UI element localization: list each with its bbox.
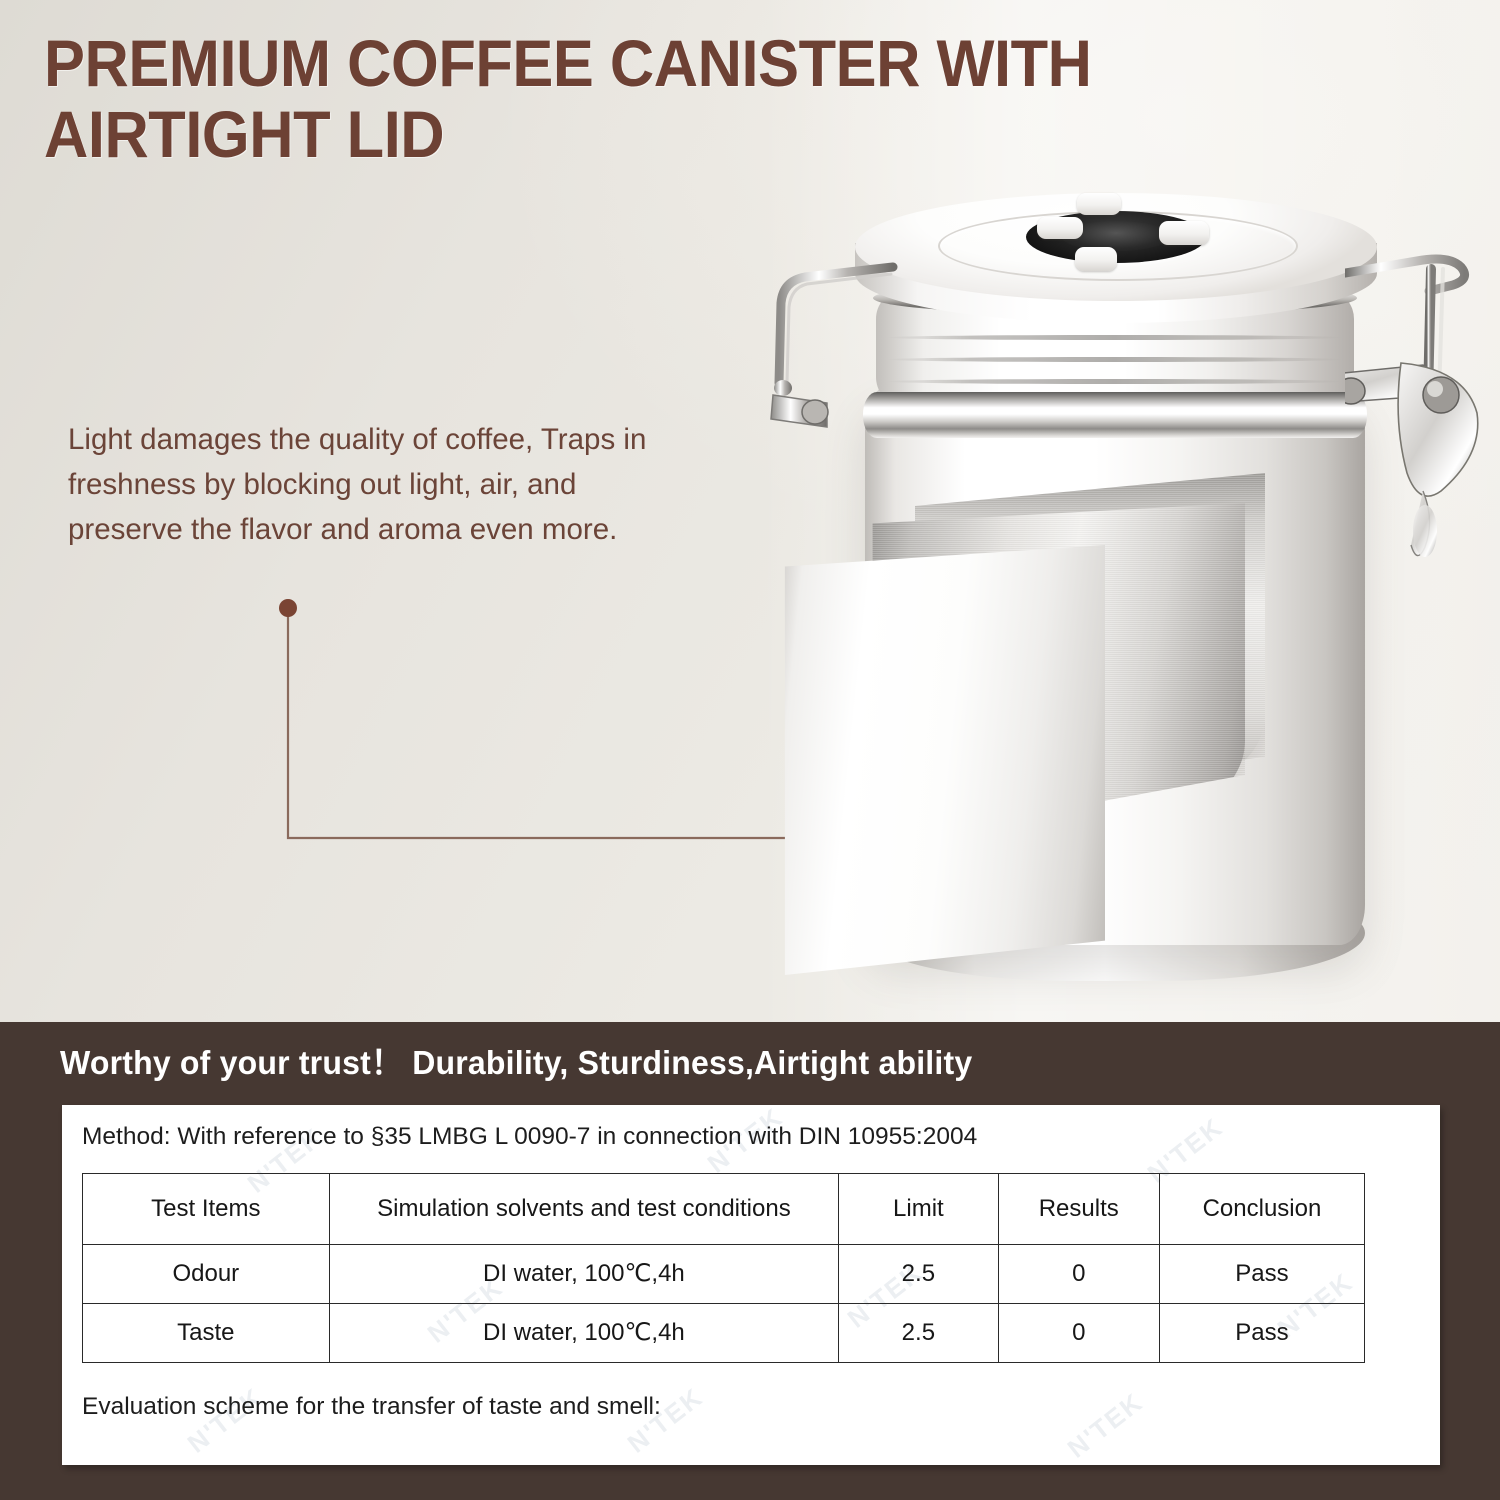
- product-hero-panel: PREMIUM COFFEE CANISTER WITH AIRTIGHT LI…: [0, 0, 1500, 1022]
- cell-limit: 2.5: [839, 1245, 998, 1304]
- column-header: Limit: [839, 1174, 998, 1245]
- bail-clamp-left-icon: [765, 255, 905, 455]
- cell-results: 0: [998, 1304, 1159, 1363]
- valve-knob-tab: [1077, 193, 1121, 215]
- evaluation-footnote: Evaluation scheme for the transfer of ta…: [82, 1393, 661, 1421]
- neck-rib: [887, 357, 1343, 362]
- watermark: N'TEK: [1062, 1387, 1150, 1465]
- cell-results: 0: [998, 1245, 1159, 1304]
- table-header-row: Test Items Simulation solvents and test …: [83, 1174, 1365, 1245]
- test-report-card: N'TEK N'TEK N'TEK N'TEK N'TEK N'TEK N'TE…: [62, 1105, 1440, 1465]
- neck-rib: [887, 335, 1343, 340]
- column-header: Test Items: [83, 1174, 330, 1245]
- cell-test-item: Taste: [83, 1304, 330, 1363]
- column-header: Results: [998, 1174, 1159, 1245]
- cell-conditions: DI water, 100℃,4h: [329, 1245, 839, 1304]
- page-title: PREMIUM COFFEE CANISTER WITH AIRTIGHT LI…: [44, 28, 1216, 169]
- table-row: Odour DI water, 100℃,4h 2.5 0 Pass: [83, 1245, 1365, 1304]
- test-method-line: Method: With reference to §35 LMBG L 009…: [82, 1123, 977, 1151]
- valve-knob-tab: [1037, 217, 1083, 239]
- column-header: Conclusion: [1159, 1174, 1364, 1245]
- cell-test-item: Odour: [83, 1245, 330, 1304]
- outer-white-panel-layer: [775, 545, 1105, 975]
- cell-conclusion: Pass: [1159, 1304, 1364, 1363]
- infographic-page: PREMIUM COFFEE CANISTER WITH AIRTIGHT LI…: [0, 0, 1500, 1500]
- canister-illustration: [745, 185, 1500, 985]
- cell-conditions: DI water, 100℃,4h: [329, 1304, 839, 1363]
- bail-clamp-right-icon: [1345, 245, 1500, 575]
- column-header: Simulation solvents and test conditions: [329, 1174, 839, 1245]
- feature-description: Light damages the quality of coffee, Tra…: [68, 418, 658, 552]
- chrome-band: [863, 392, 1367, 438]
- valve-knob-tab: [1075, 247, 1117, 271]
- cell-limit: 2.5: [839, 1304, 998, 1363]
- valve-knob-tab: [1159, 221, 1209, 245]
- cell-conclusion: Pass: [1159, 1245, 1364, 1304]
- banner-title: Worthy of your trust！ Durability, Sturdi…: [60, 1036, 972, 1084]
- test-results-table: Test Items Simulation solvents and test …: [82, 1173, 1365, 1363]
- table-row: Taste DI water, 100℃,4h 2.5 0 Pass: [83, 1304, 1365, 1363]
- neck-rib: [887, 379, 1343, 384]
